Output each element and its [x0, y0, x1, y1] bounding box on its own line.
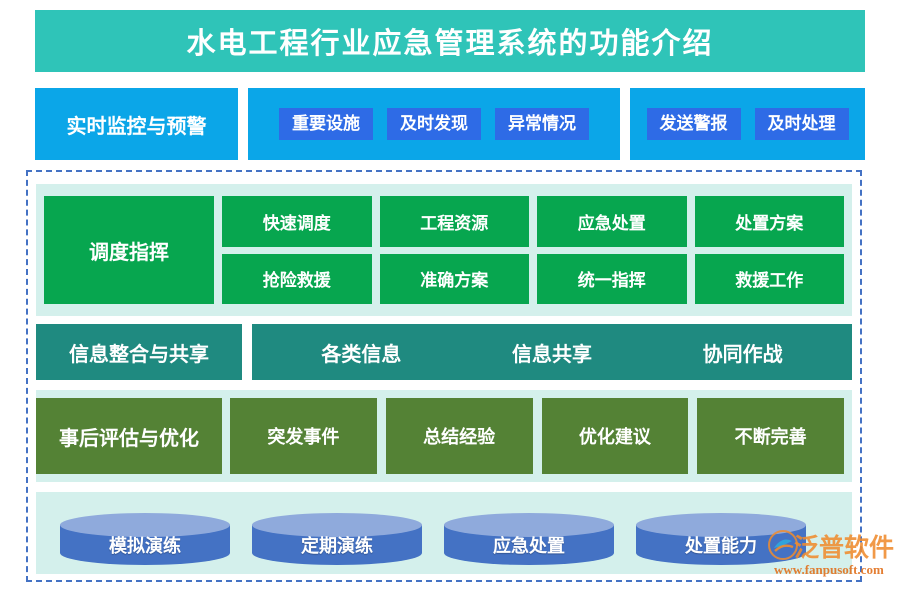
drill-cylinder[interactable]: 定期演练 — [252, 513, 422, 565]
section-monitoring-label-text: 实时监控与预警 — [67, 110, 207, 139]
dispatch-cell[interactable]: 统一指挥 — [537, 254, 687, 305]
evaluation-cell[interactable]: 突发事件 — [230, 398, 377, 474]
drills-row: 模拟演练 定期演练 应急处置 处置能力 — [60, 510, 840, 568]
monitoring-chip[interactable]: 重要设施 — [279, 108, 373, 141]
info-sharing-item[interactable]: 信息共享 — [512, 338, 592, 367]
drill-cylinder-label: 模拟演练 — [60, 525, 230, 565]
drill-cylinder[interactable]: 应急处置 — [444, 513, 614, 565]
section-evaluation-label: 事后评估与优化 — [36, 398, 222, 474]
info-sharing-panel: 各类信息 信息共享 协同作战 — [252, 324, 852, 380]
info-sharing-item[interactable]: 协同作战 — [703, 338, 783, 367]
monitoring-group-a: 重要设施 及时发现 异常情况 — [248, 88, 620, 160]
infographic-canvas: 水电工程行业应急管理系统的功能介绍 实时监控与预警 重要设施 及时发现 异常情况… — [0, 0, 900, 600]
evaluation-cell[interactable]: 不断完善 — [697, 398, 844, 474]
monitoring-chip[interactable]: 发送警报 — [647, 108, 741, 141]
section-info-sharing-label: 信息整合与共享 — [36, 324, 242, 380]
drill-cylinder-label: 处置能力 — [636, 525, 806, 565]
section-info-sharing-label-text: 信息整合与共享 — [69, 338, 209, 367]
dispatch-cell[interactable]: 工程资源 — [380, 196, 530, 247]
evaluation-row: 突发事件 总结经验 优化建议 不断完善 — [230, 398, 844, 474]
drill-cylinder-label: 定期演练 — [252, 525, 422, 565]
section-evaluation-label-text: 事后评估与优化 — [59, 422, 199, 451]
section-dispatch-label-text: 调度指挥 — [89, 236, 169, 265]
section-dispatch-label: 调度指挥 — [44, 196, 214, 304]
evaluation-cell[interactable]: 总结经验 — [386, 398, 533, 474]
monitoring-group-b: 发送警报 及时处理 — [630, 88, 865, 160]
dispatch-cell[interactable]: 抢险救援 — [222, 254, 372, 305]
monitoring-chip[interactable]: 异常情况 — [495, 108, 589, 141]
dispatch-cell[interactable]: 应急处置 — [537, 196, 687, 247]
info-sharing-item[interactable]: 各类信息 — [321, 338, 401, 367]
page-title: 水电工程行业应急管理系统的功能介绍 — [35, 10, 865, 72]
dispatch-grid: 快速调度 工程资源 应急处置 处置方案 抢险救援 准确方案 统一指挥 救援工作 — [222, 196, 844, 304]
evaluation-cell[interactable]: 优化建议 — [542, 398, 689, 474]
drill-cylinder[interactable]: 处置能力 — [636, 513, 806, 565]
dispatch-cell[interactable]: 处置方案 — [695, 196, 845, 247]
dispatch-cell[interactable]: 准确方案 — [380, 254, 530, 305]
monitoring-chip[interactable]: 及时处理 — [755, 108, 849, 141]
monitoring-chip[interactable]: 及时发现 — [387, 108, 481, 141]
dispatch-cell[interactable]: 救援工作 — [695, 254, 845, 305]
page-title-text: 水电工程行业应急管理系统的功能介绍 — [186, 20, 713, 62]
drill-cylinder-label: 应急处置 — [444, 525, 614, 565]
drill-cylinder[interactable]: 模拟演练 — [60, 513, 230, 565]
dispatch-cell[interactable]: 快速调度 — [222, 196, 372, 247]
section-monitoring-label: 实时监控与预警 — [35, 88, 238, 160]
